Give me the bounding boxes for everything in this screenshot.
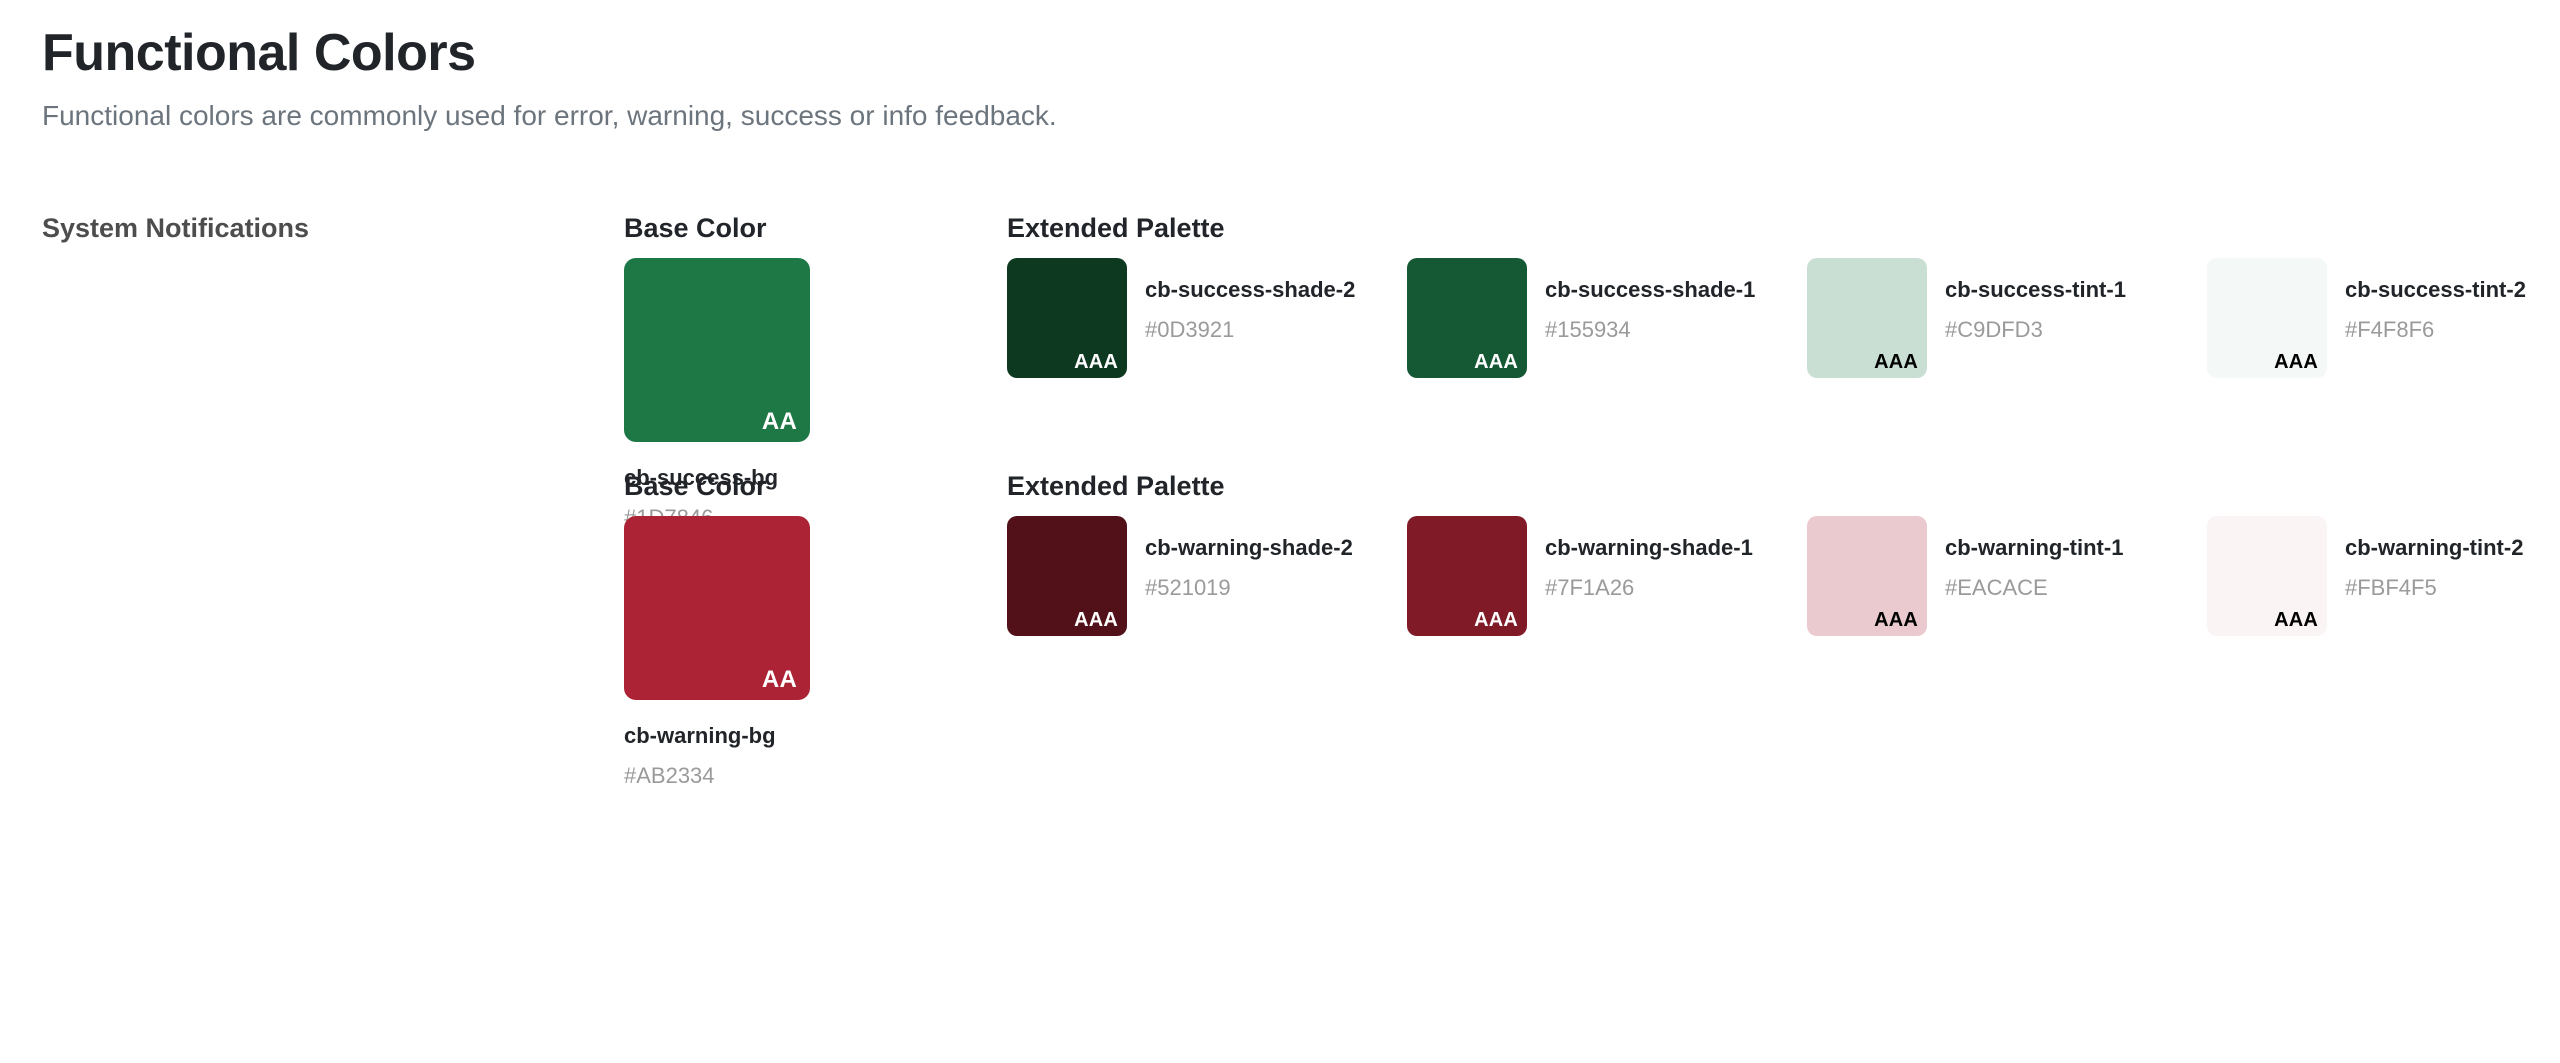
palette-item[interactable]: AAA cb-warning-tint-2 #FBF4F5 [2207, 516, 2523, 636]
heading-base-color: Base Color [624, 212, 767, 244]
contrast-badge: AAA [1074, 352, 1118, 372]
base-color-card-warning[interactable]: AA cb-warning-bg #AB2334 [624, 516, 810, 789]
palette-token-name: cb-success-shade-2 [1145, 276, 1355, 304]
contrast-badge: AAA [2274, 610, 2318, 630]
column-headings-success: System Notifications Base Color Extended… [0, 212, 2560, 258]
heading-extended-palette: Extended Palette [1007, 212, 1225, 244]
palette-item[interactable]: AAA cb-warning-shade-2 #521019 [1007, 516, 1407, 636]
palette-hex-value: #0D3921 [1145, 316, 1355, 344]
base-color-hex-value: #AB2334 [624, 762, 810, 790]
page-subtitle: Functional colors are commonly used for … [42, 98, 2560, 134]
palette-item[interactable]: AAA cb-success-tint-2 #F4F8F6 [2207, 258, 2526, 378]
contrast-badge: AAA [1874, 610, 1918, 630]
palette-color-swatch[interactable]: AAA [1407, 516, 1527, 636]
palette-item-meta: cb-success-shade-2 #0D3921 [1145, 258, 1355, 343]
palette-item[interactable]: AAA cb-success-shade-2 #0D3921 [1007, 258, 1407, 378]
palette-color-swatch[interactable]: AAA [1007, 516, 1127, 636]
palette-color-swatch[interactable]: AAA [2207, 258, 2327, 378]
palette-hex-value: #C9DFD3 [1945, 316, 2126, 344]
palette-color-swatch[interactable]: AAA [1007, 258, 1127, 378]
contrast-badge: AAA [1474, 610, 1518, 630]
functional-colors-page: Functional Colors Functional colors are … [0, 0, 2560, 1063]
palette-token-name: cb-success-tint-1 [1945, 276, 2126, 304]
base-color-token-name: cb-warning-bg [624, 722, 810, 750]
palette-item-meta: cb-warning-tint-1 #EACACE [1945, 516, 2123, 601]
palette-item[interactable]: AAA cb-warning-tint-1 #EACACE [1807, 516, 2207, 636]
column-headings-warning: Base Color Extended Palette [0, 470, 2560, 516]
palette-item[interactable]: AAA cb-warning-shade-1 #7F1A26 [1407, 516, 1807, 636]
page-title: Functional Colors [42, 24, 2560, 84]
palette-item-meta: cb-success-tint-2 #F4F8F6 [2345, 258, 2526, 343]
contrast-badge: AAA [1474, 352, 1518, 372]
palette-item-meta: cb-success-shade-1 #155934 [1545, 258, 1755, 343]
palette-color-swatch[interactable]: AAA [1807, 516, 1927, 636]
palette-token-name: cb-warning-tint-1 [1945, 534, 2123, 562]
palette-token-name: cb-success-shade-1 [1545, 276, 1755, 304]
heading-extended-palette: Extended Palette [1007, 470, 1225, 502]
palette-color-swatch[interactable]: AAA [2207, 516, 2327, 636]
palette-item[interactable]: AAA cb-success-tint-1 #C9DFD3 [1807, 258, 2207, 378]
contrast-badge: AAA [2274, 352, 2318, 372]
palette-color-swatch[interactable]: AAA [1407, 258, 1527, 378]
contrast-badge: AAA [1074, 610, 1118, 630]
contrast-badge: AAA [1874, 352, 1918, 372]
group-label-system-notifications: System Notifications [42, 212, 309, 244]
extended-palette-success: AAA cb-success-shade-2 #0D3921 AAA cb-su… [1007, 258, 2526, 378]
palette-token-name: cb-warning-shade-2 [1145, 534, 1353, 562]
page-header: Functional Colors Functional colors are … [0, 0, 2560, 134]
base-color-swatch[interactable]: AA [624, 258, 810, 442]
palette-token-name: cb-warning-tint-2 [2345, 534, 2523, 562]
palette-hex-value: #521019 [1145, 574, 1353, 602]
palette-item-meta: cb-warning-tint-2 #FBF4F5 [2345, 516, 2523, 601]
palette-hex-value: #155934 [1545, 316, 1755, 344]
palette-hex-value: #F4F8F6 [2345, 316, 2526, 344]
palette-item-meta: cb-success-tint-1 #C9DFD3 [1945, 258, 2126, 343]
palette-item[interactable]: AAA cb-success-shade-1 #155934 [1407, 258, 1807, 378]
heading-base-color: Base Color [624, 470, 767, 502]
contrast-badge: AA [762, 668, 797, 692]
palette-hex-value: #7F1A26 [1545, 574, 1753, 602]
palette-token-name: cb-success-tint-2 [2345, 276, 2526, 304]
base-color-swatch[interactable]: AA [624, 516, 810, 700]
extended-palette-warning: AAA cb-warning-shade-2 #521019 AAA cb-wa… [1007, 516, 2523, 636]
palette-hex-value: #EACACE [1945, 574, 2123, 602]
color-section-warning: Base Color Extended Palette AA cb-warnin… [0, 470, 2560, 816]
palette-item-meta: cb-warning-shade-2 #521019 [1145, 516, 1353, 601]
palette-item-meta: cb-warning-shade-1 #7F1A26 [1545, 516, 1753, 601]
palette-token-name: cb-warning-shade-1 [1545, 534, 1753, 562]
palette-color-swatch[interactable]: AAA [1807, 258, 1927, 378]
color-row-warning: AA cb-warning-bg #AB2334 AAA cb-warning-… [0, 516, 2560, 816]
contrast-badge: AA [762, 410, 797, 434]
palette-hex-value: #FBF4F5 [2345, 574, 2523, 602]
